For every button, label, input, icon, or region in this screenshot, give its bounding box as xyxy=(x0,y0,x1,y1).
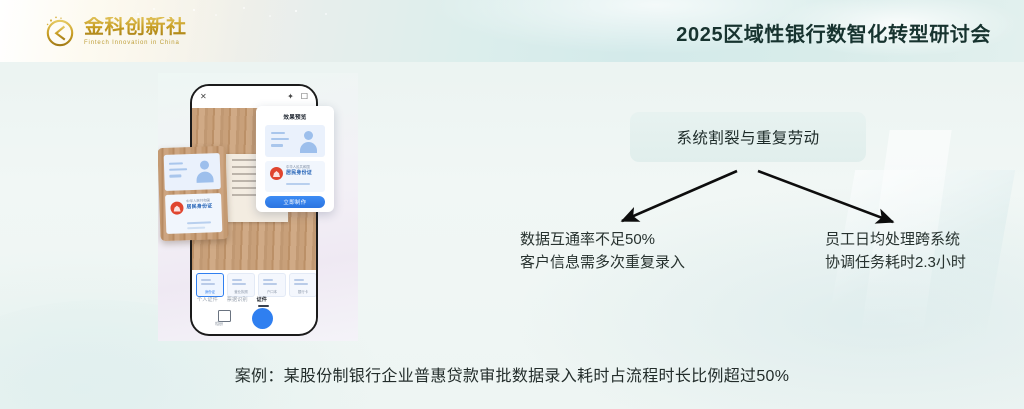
diagram-branch-left: 数据互通率不足50% 客户信息需多次重复录入 xyxy=(520,229,685,274)
diagram-arrows xyxy=(0,0,1024,409)
diagram-branch-right: 员工日均处理跨系统 协调任务耗时2.3小时 xyxy=(825,229,966,274)
branch-left-line-1: 客户信息需多次重复录入 xyxy=(520,252,685,275)
case-caption: 案例：某股份制银行企业普惠贷款审批数据录入耗时占流程时长比例超过50% xyxy=(0,362,1024,386)
branch-left-line-0: 数据互通率不足50% xyxy=(520,229,685,252)
slide-canvas: 金科创新社 Fintech Innovation in China 2025区域… xyxy=(0,0,1024,409)
arrow-to-left-branch xyxy=(622,171,737,221)
arrow-to-right-branch xyxy=(758,171,893,222)
branch-right-line-1: 协调任务耗时2.3小时 xyxy=(825,252,966,275)
branch-right-line-0: 员工日均处理跨系统 xyxy=(825,229,966,252)
